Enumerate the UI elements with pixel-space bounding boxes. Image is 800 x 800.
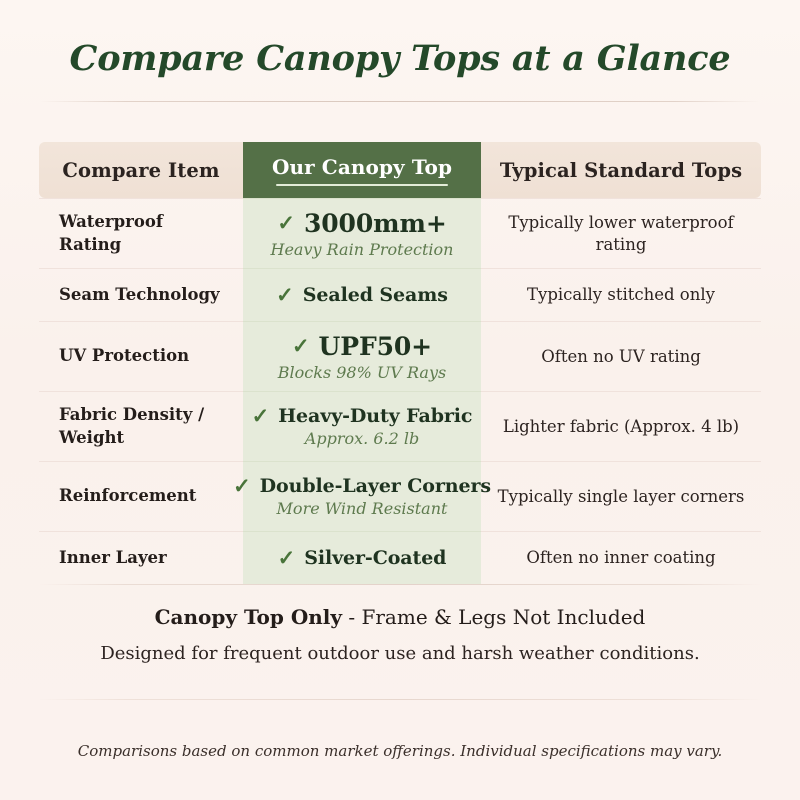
row-ours-cell: ✓ Silver-Coated [243,531,481,584]
row-typical-cell: Typically lower waterproof rating [481,198,761,268]
check-icon: ✓ [278,548,296,569]
row-item-cell: Inner Layer [39,531,243,584]
header-label-ours: Our Canopy Top [272,155,452,179]
row-typical-cell: Typically single layer corners [481,461,761,531]
row-item-cell: Waterproof Rating [39,198,243,268]
comparison-infographic: Compare Canopy Tops at a Glance Compare … [0,0,800,800]
check-icon: ✓ [276,285,294,306]
comparison-table: Compare Item Our Canopy Top Typical Stan… [39,142,761,584]
row-typical-cell: Often no UV rating [481,321,761,391]
row-ours-value: Silver-Coated [304,547,446,569]
table-row: Waterproof Rating ✓ 3000mm+ Heavy Rain P… [39,198,761,268]
header-cell-ours: Our Canopy Top [243,142,481,198]
header-label-item: Compare Item [62,159,219,182]
row-ours-cell: ✓ UPF50+ Blocks 98% UV Rays [243,321,481,391]
row-ours-subtext: More Wind Resistant [277,499,448,518]
header-cell-typical: Typical Standard Tops [481,142,761,198]
footer-section: Canopy Top Only - Frame & Legs Not Inclu… [39,584,761,760]
row-item-cell: Reinforcement [39,461,243,531]
check-icon: ✓ [292,336,310,357]
row-item-label: Seam Technology [59,284,220,306]
row-typical-value: Typically stitched only [527,284,715,305]
row-item-label: Fabric Density / Weight [59,404,229,448]
table-row: Inner Layer ✓ Silver-Coated Often no inn… [39,531,761,584]
row-ours-main: ✓ Double-Layer Corners [233,475,491,497]
row-typical-value: Typically lower waterproof rating [491,212,751,255]
row-typical-value: Often no UV rating [541,346,701,367]
row-ours-main: ✓ Silver-Coated [278,547,447,569]
row-typical-value: Often no inner coating [526,547,715,568]
footer-note-rest: - Frame & Legs Not Included [342,605,645,629]
row-ours-subtext: Approx. 6.2 lb [305,429,419,448]
row-ours-value: Sealed Seams [303,284,448,306]
row-ours-cell: ✓ Heavy-Duty Fabric Approx. 6.2 lb [243,391,481,461]
row-item-label: Reinforcement [59,485,196,507]
row-ours-value: Heavy-Duty Fabric [278,405,472,427]
row-item-label: Waterproof Rating [59,211,229,255]
row-ours-cell: ✓ Sealed Seams [243,268,481,321]
row-ours-main: ✓ 3000mm+ [277,209,446,238]
footer-divider-top [39,584,761,585]
row-typical-value: Lighter fabric (Approx. 4 lb) [503,416,739,437]
check-icon: ✓ [252,406,270,427]
row-item-label: Inner Layer [59,547,167,569]
header-label-typical: Typical Standard Tops [500,159,742,182]
title-section: Compare Canopy Tops at a Glance [0,0,800,102]
title-divider [39,101,761,102]
footer-note-bold: Canopy Top Only [155,605,342,629]
row-ours-main: ✓ UPF50+ [292,332,432,361]
footer-divider-bottom [39,699,761,700]
header-cell-item: Compare Item [39,142,243,198]
table-row: Seam Technology ✓ Sealed Seams Typically… [39,268,761,321]
row-ours-value: 3000mm+ [304,209,447,238]
row-ours-subtext: Blocks 98% UV Rays [278,363,446,382]
row-ours-value: UPF50+ [319,332,433,361]
row-item-cell: Seam Technology [39,268,243,321]
footer-description: Designed for frequent outdoor use and ha… [39,643,761,664]
header-underline [276,184,448,186]
table-row: Reinforcement ✓ Double-Layer Corners Mor… [39,461,761,531]
table-row: UV Protection ✓ UPF50+ Blocks 98% UV Ray… [39,321,761,391]
row-item-label: UV Protection [59,345,189,367]
row-ours-main: ✓ Sealed Seams [276,284,448,306]
footer-note: Canopy Top Only - Frame & Legs Not Inclu… [39,605,761,629]
row-item-cell: UV Protection [39,321,243,391]
disclaimer-text: Comparisons based on common market offer… [39,742,761,760]
row-item-cell: Fabric Density / Weight [39,391,243,461]
row-typical-value: Typically single layer corners [498,486,745,507]
row-typical-cell: Lighter fabric (Approx. 4 lb) [481,391,761,461]
check-icon: ✓ [277,213,295,234]
row-ours-cell: ✓ Double-Layer Corners More Wind Resista… [243,461,481,531]
table-header-row: Compare Item Our Canopy Top Typical Stan… [39,142,761,198]
row-ours-subtext: Heavy Rain Protection [271,240,454,259]
check-icon: ✓ [233,476,251,497]
row-typical-cell: Typically stitched only [481,268,761,321]
table-row: Fabric Density / Weight ✓ Heavy-Duty Fab… [39,391,761,461]
row-typical-cell: Often no inner coating [481,531,761,584]
row-ours-main: ✓ Heavy-Duty Fabric [252,405,473,427]
row-ours-cell: ✓ 3000mm+ Heavy Rain Protection [243,198,481,268]
page-title: Compare Canopy Tops at a Glance [0,38,800,79]
row-ours-value: Double-Layer Corners [260,475,491,497]
